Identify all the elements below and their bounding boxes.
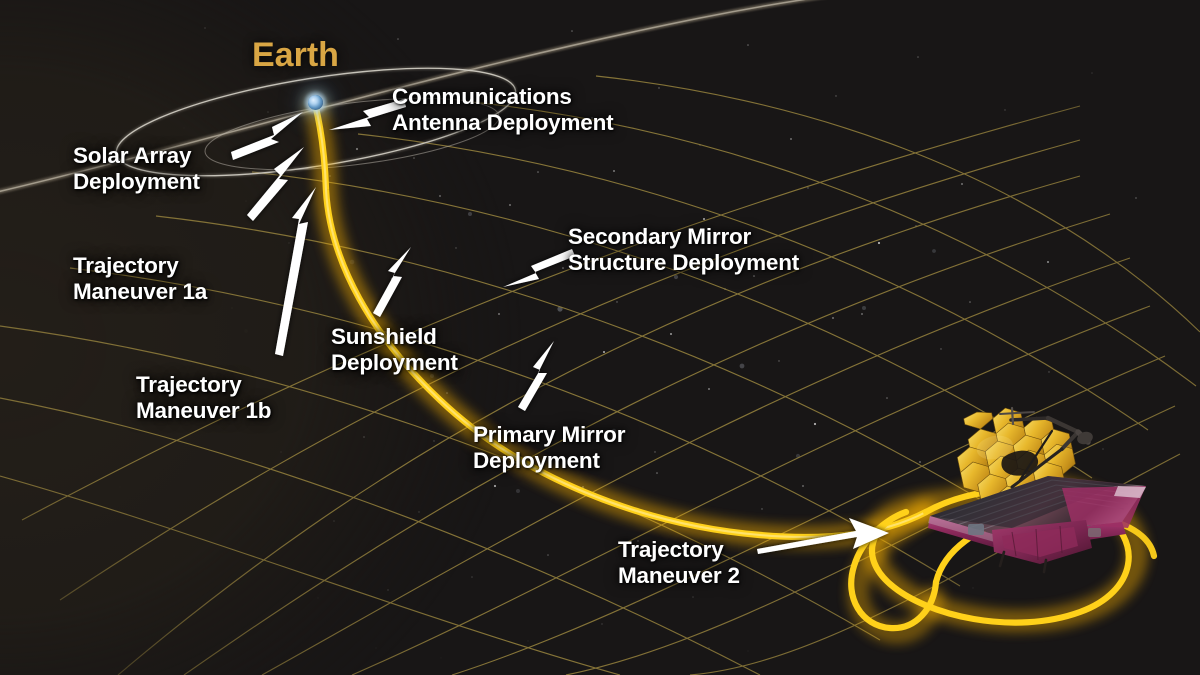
label-sunshield-deployment[interactable]: Sunshield Deployment	[331, 324, 458, 377]
arrow-trajectory-1b	[275, 187, 316, 356]
arrow-sunshield	[373, 247, 411, 317]
arrow-solar-array	[231, 112, 303, 160]
label-trajectory-maneuver-1a[interactable]: Trajectory Maneuver 1a	[73, 253, 207, 306]
arrow-primary-mirror	[518, 341, 554, 411]
arrow-trajectory-1a	[247, 147, 304, 221]
jwst-deployment-diagram: Earth Solar Array Deployment Communicati…	[0, 0, 1200, 675]
earth-label: Earth	[252, 36, 339, 75]
label-trajectory-maneuver-2[interactable]: Trajectory Maneuver 2	[618, 537, 740, 590]
arrow-secondary-mirror	[503, 249, 575, 287]
label-trajectory-maneuver-1b[interactable]: Trajectory Maneuver 1b	[136, 372, 271, 425]
label-solar-array-deployment[interactable]: Solar Array Deployment	[73, 143, 200, 196]
arrow-trajectory-2	[757, 518, 889, 554]
label-secondary-mirror-structure-deployment[interactable]: Secondary Mirror Structure Deployment	[568, 224, 799, 277]
earth-planet-dot	[308, 95, 323, 110]
label-communications-antenna-deployment[interactable]: Communications Antenna Deployment	[392, 84, 613, 137]
label-primary-mirror-deployment[interactable]: Primary Mirror Deployment	[473, 422, 625, 475]
